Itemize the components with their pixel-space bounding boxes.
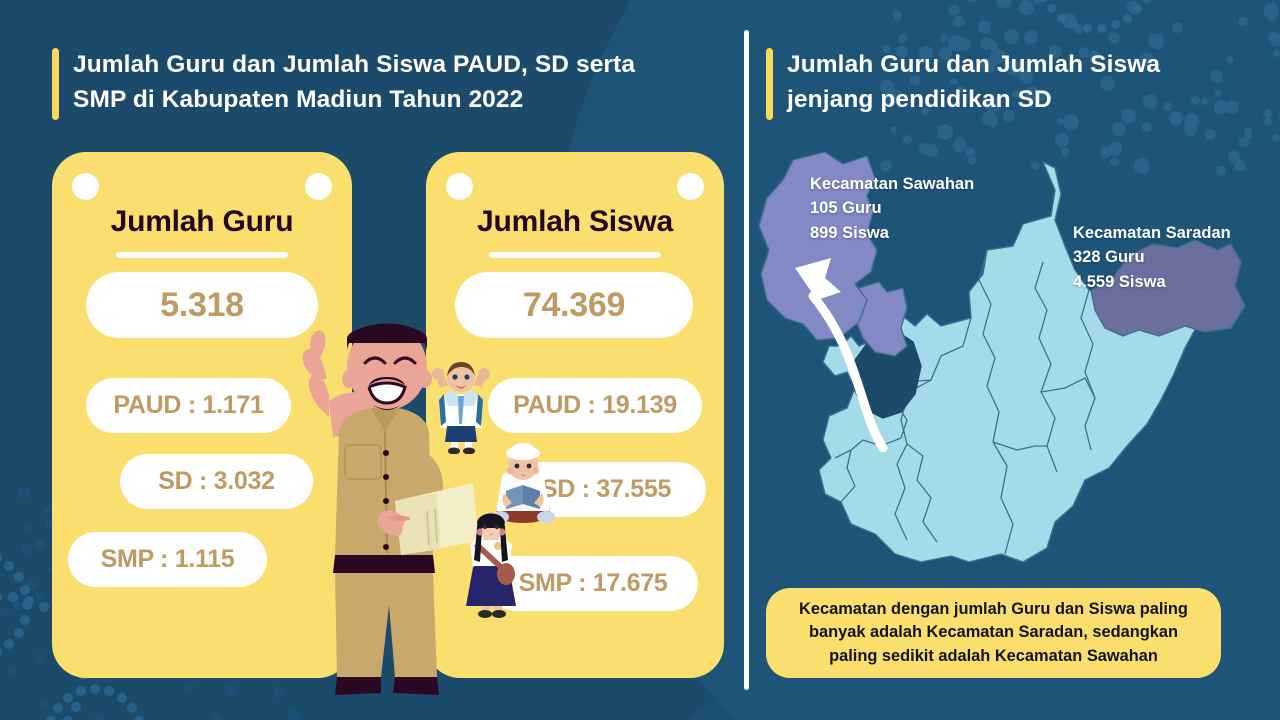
heading-accent-bar (52, 48, 59, 120)
right-panel-heading: Jumlah Guru dan Jumlah Siswa jenjang pen… (766, 48, 1160, 120)
card-knob-right-icon (677, 173, 704, 200)
siswa-total-value: 74.369 (455, 272, 693, 338)
map-annotation-saradan: Kecamatan Saradan 328 Guru 4.559 Siswa (1073, 221, 1231, 294)
siswa-paud-row: PAUD : 19.139 (488, 378, 702, 433)
card-underline-guru (116, 252, 288, 258)
guru-smp-row: SMP : 1.115 (68, 532, 267, 587)
right-panel-title: Jumlah Guru dan Jumlah Siswa jenjang pen… (787, 48, 1160, 118)
card-heading-guru: Jumlah Guru (52, 205, 352, 239)
left-panel-heading: Jumlah Guru dan Jumlah Siswa PAUD, SD se… (52, 48, 635, 120)
card-heading-siswa: Jumlah Siswa (426, 205, 724, 239)
left-panel-title: Jumlah Guru dan Jumlah Siswa PAUD, SD se… (73, 48, 635, 118)
card-knob-left-icon (72, 173, 99, 200)
card-underline-siswa (489, 252, 661, 258)
card-knob-right-icon (305, 173, 332, 200)
heading-accent-bar (766, 48, 773, 120)
map-caption: Kecamatan dengan jumlah Guru dan Siswa p… (766, 588, 1221, 678)
card-knob-left-icon (446, 173, 473, 200)
map-annotation-sawahan: Kecamatan Sawahan 105 Guru 899 Siswa (810, 172, 974, 245)
student-girl-illustration (456, 508, 526, 618)
guru-paud-row: PAUD : 1.171 (86, 378, 291, 433)
panel-divider (744, 30, 749, 690)
student-boy-cheering-illustration (430, 358, 492, 454)
infographic-canvas: Jumlah Guru dan Jumlah Siswa PAUD, SD se… (0, 0, 1280, 720)
